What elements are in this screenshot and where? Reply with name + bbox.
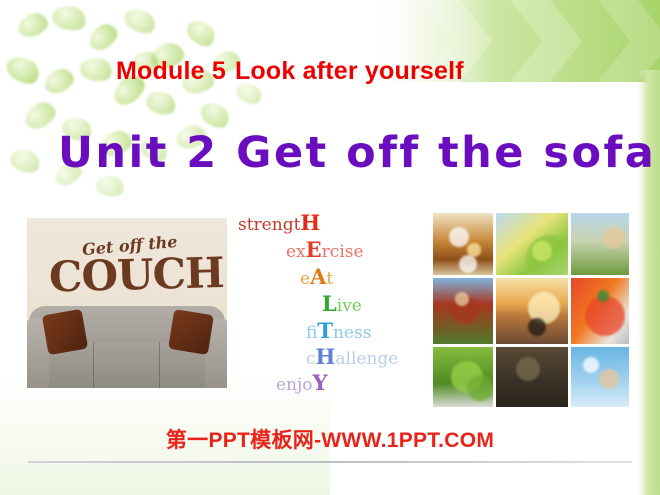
collage-detail-shape bbox=[597, 290, 609, 302]
wordart-capital-letter: E bbox=[306, 237, 322, 262]
collage-tile-chamomile-tea bbox=[433, 213, 493, 275]
wordart-prefix: e bbox=[300, 269, 310, 289]
sofa-pillow-left bbox=[42, 309, 88, 355]
leaf-shape bbox=[121, 4, 159, 37]
footer-divider bbox=[28, 461, 632, 463]
collage-detail-shape bbox=[585, 296, 625, 336]
page-title: Unit 2 Get off the sofa. bbox=[58, 128, 660, 178]
collage-detail-shape bbox=[528, 318, 546, 336]
presentation-slide: Module 5Look after yourself Unit 2 Get o… bbox=[0, 0, 660, 495]
collage-tile-fresh-lettuce bbox=[433, 347, 493, 407]
collage-tile-sea-reflection bbox=[496, 347, 568, 407]
leaf-shape bbox=[182, 15, 219, 51]
wordart-capital-letter: A bbox=[310, 264, 326, 289]
module-heading: Module 5Look after yourself bbox=[116, 57, 464, 86]
module-heading-text: Look after yourself bbox=[235, 57, 464, 85]
healthy-acrostic-wordart: strengtHexErciseeAtLivefiTnesscHallengee… bbox=[238, 212, 423, 397]
wordart-prefix: enjo bbox=[276, 375, 313, 395]
wordart-capital-letter: H bbox=[316, 344, 336, 369]
wordart-capital-letter: L bbox=[322, 291, 337, 316]
collage-detail-shape bbox=[532, 241, 552, 261]
wordart-suffix: allenge bbox=[335, 349, 398, 369]
collage-detail-shape bbox=[583, 357, 599, 373]
collage-tile-yoga-at-sunset bbox=[496, 278, 568, 344]
collage-tile-woman-with-water bbox=[433, 278, 493, 344]
wordart-row: Live bbox=[322, 293, 362, 315]
leaf-shape bbox=[78, 55, 114, 83]
module-heading-number: Module 5 bbox=[116, 57, 226, 85]
leaf-shape bbox=[84, 19, 121, 54]
collage-tile-green-apple bbox=[496, 213, 568, 275]
collage-tile-child-arms-out bbox=[571, 347, 629, 407]
wordart-capital-letter: H bbox=[300, 210, 320, 235]
wordart-suffix: ive bbox=[337, 296, 362, 316]
leaf-shape bbox=[41, 65, 77, 98]
sofa-cushion-divider bbox=[159, 342, 160, 388]
wordart-row: fiTness bbox=[306, 320, 371, 342]
wordart-row: strengtH bbox=[238, 212, 320, 234]
wordart-suffix: rcise bbox=[322, 242, 364, 262]
leaf-shape bbox=[2, 51, 43, 89]
wordart-row: exErcise bbox=[286, 239, 364, 261]
wordart-row: enjoY bbox=[276, 372, 328, 394]
collage-tile-girl-in-grass bbox=[571, 213, 629, 275]
wordart-row: eAt bbox=[300, 266, 333, 288]
photo-collage bbox=[433, 213, 627, 405]
wordart-capital-letter: T bbox=[317, 318, 333, 343]
collage-detail-shape bbox=[467, 375, 493, 401]
leaf-shape bbox=[7, 145, 43, 177]
leaf-shape bbox=[15, 10, 51, 41]
wordart-capital-letter: Y bbox=[313, 370, 328, 395]
wordart-prefix: fi bbox=[306, 323, 317, 343]
watermark-text: 第一PPT模板网-WWW.1PPT.COM bbox=[0, 424, 660, 454]
leaf-shape bbox=[20, 98, 59, 134]
leaf-shape bbox=[143, 88, 179, 119]
wordart-prefix: c bbox=[306, 349, 316, 369]
wordart-row: cHallenge bbox=[306, 346, 398, 368]
couch-photo: Get off the COUCH! bbox=[27, 218, 227, 388]
wordart-suffix: ness bbox=[333, 323, 371, 343]
sofa-cushion-divider bbox=[93, 342, 94, 388]
wordart-prefix: ex bbox=[286, 242, 306, 262]
sofa-pillow-right bbox=[168, 309, 214, 355]
collage-detail-shape bbox=[599, 369, 619, 389]
collage-detail-shape bbox=[603, 227, 625, 249]
wordart-prefix: strengt bbox=[238, 215, 300, 235]
collage-detail-shape bbox=[449, 227, 469, 247]
collage-detail-shape bbox=[455, 292, 469, 306]
collage-detail-shape bbox=[459, 255, 477, 273]
decal-big-text: COUCH! bbox=[48, 247, 227, 301]
wordart-suffix: t bbox=[326, 269, 333, 289]
collage-tile-peppers-and-fork bbox=[571, 278, 629, 344]
leaf-shape bbox=[49, 2, 88, 34]
collage-detail-shape bbox=[516, 357, 540, 381]
